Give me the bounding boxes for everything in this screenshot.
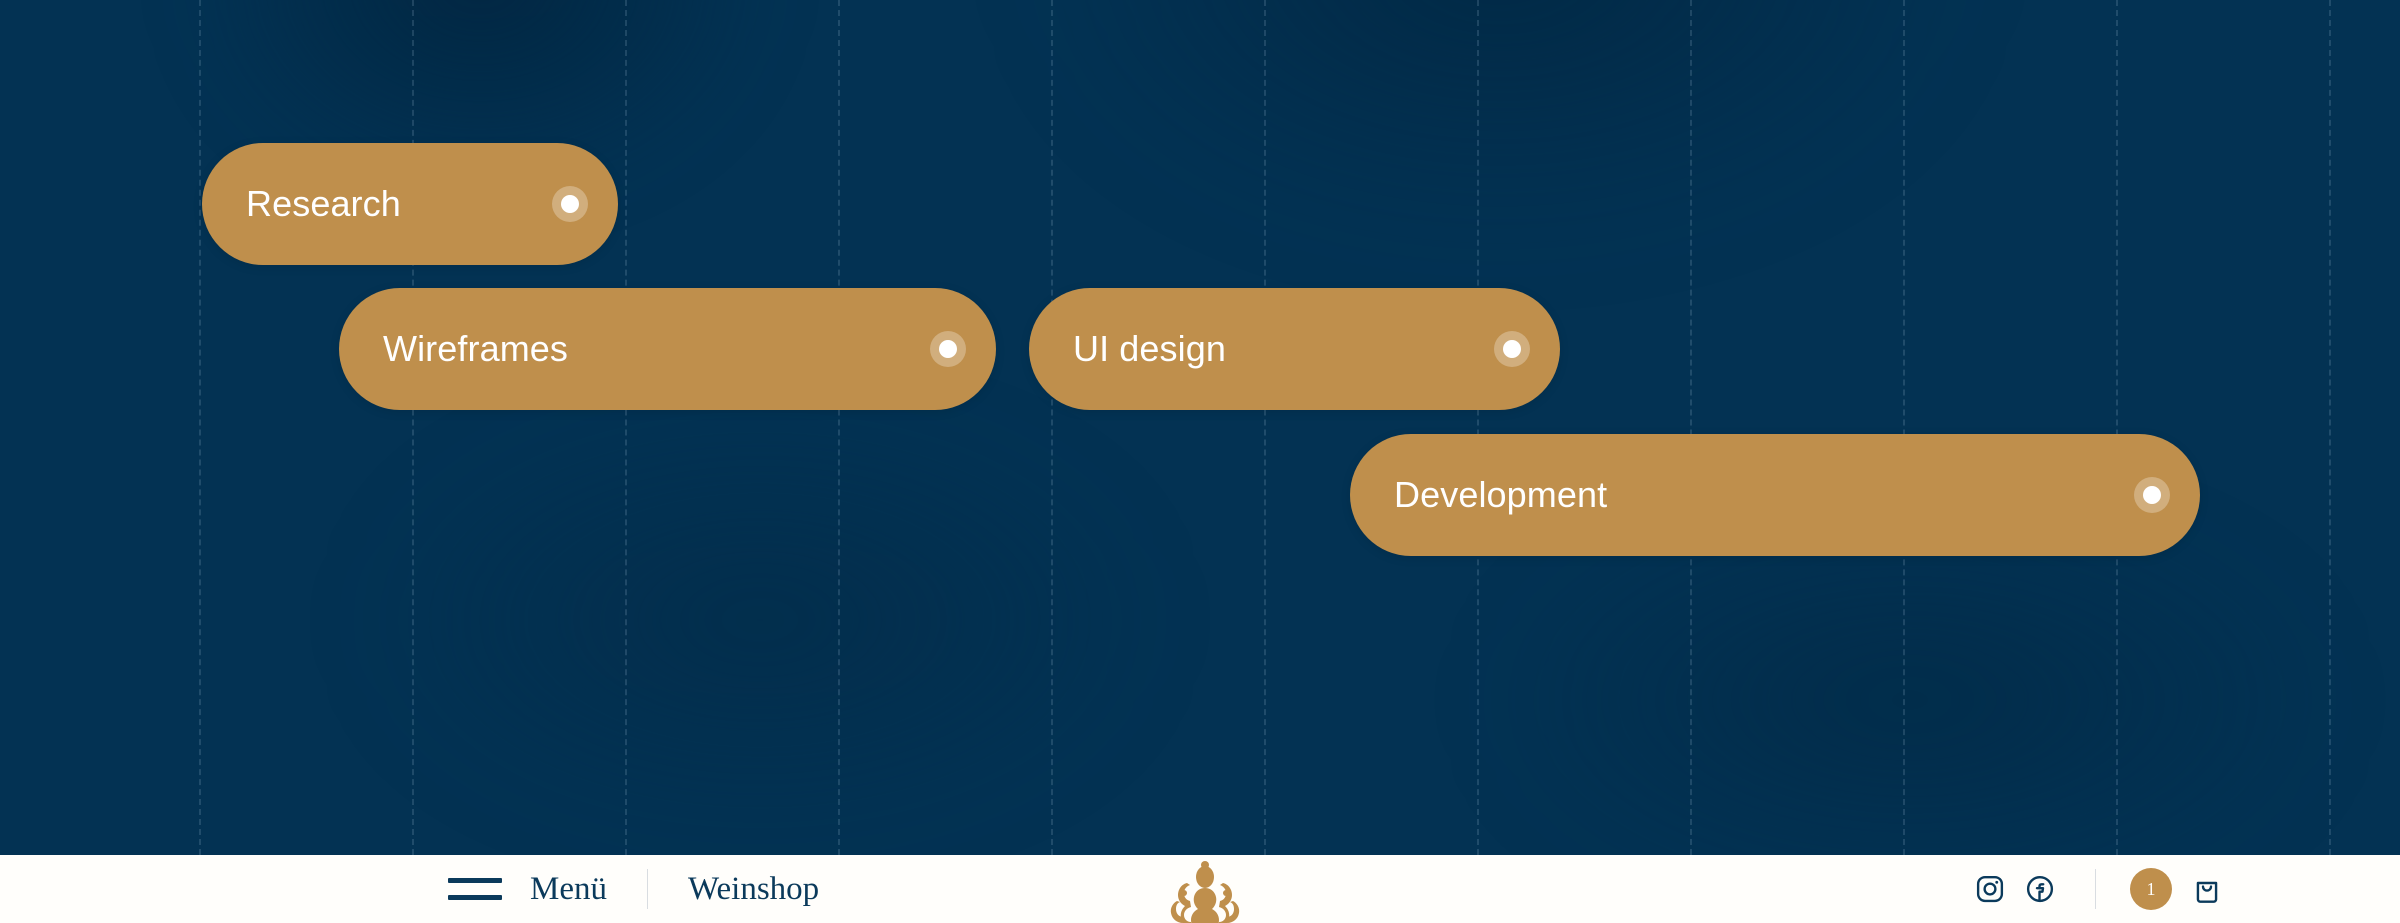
shopping-bag-icon[interactable]	[2186, 868, 2228, 910]
hamburger-icon[interactable]	[448, 878, 502, 900]
bottom-bar-right-group: 1	[1969, 855, 2228, 923]
timeline-track: ResearchWireframesUI designDevelopment	[0, 0, 2400, 855]
task-pill-label: Research	[246, 186, 401, 222]
weinshop-link[interactable]: Weinshop	[688, 873, 819, 906]
task-pill[interactable]: UI design	[1029, 288, 1560, 410]
cart-button[interactable]: 1	[2130, 868, 2228, 910]
bottom-bar-left-group: Menü Weinshop	[448, 855, 819, 923]
task-pill-label: UI design	[1073, 331, 1226, 367]
task-pill[interactable]: Wireframes	[339, 288, 996, 410]
cart-count-badge: 1	[2130, 868, 2172, 910]
task-resize-handle[interactable]	[930, 331, 966, 367]
task-pill-label: Development	[1394, 477, 1607, 513]
timeline-canvas: ResearchWireframesUI designDevelopment	[0, 0, 2400, 855]
task-resize-handle[interactable]	[1494, 331, 1530, 367]
task-pill-label: Wireframes	[383, 331, 568, 367]
instagram-icon[interactable]	[1969, 868, 2011, 910]
divider	[2095, 869, 2096, 909]
facebook-icon[interactable]	[2019, 868, 2061, 910]
task-pill[interactable]: Development	[1350, 434, 2200, 556]
task-resize-handle[interactable]	[552, 186, 588, 222]
task-pill[interactable]: Research	[202, 143, 618, 265]
app-screen: ResearchWireframesUI designDevelopment M…	[0, 0, 2400, 923]
divider	[647, 869, 648, 909]
task-resize-handle[interactable]	[2134, 477, 2170, 513]
menu-button[interactable]: Menü	[530, 873, 607, 906]
site-bottom-bar: Menü Weinshop	[0, 855, 2400, 923]
brand-logo[interactable]	[1157, 857, 1253, 923]
